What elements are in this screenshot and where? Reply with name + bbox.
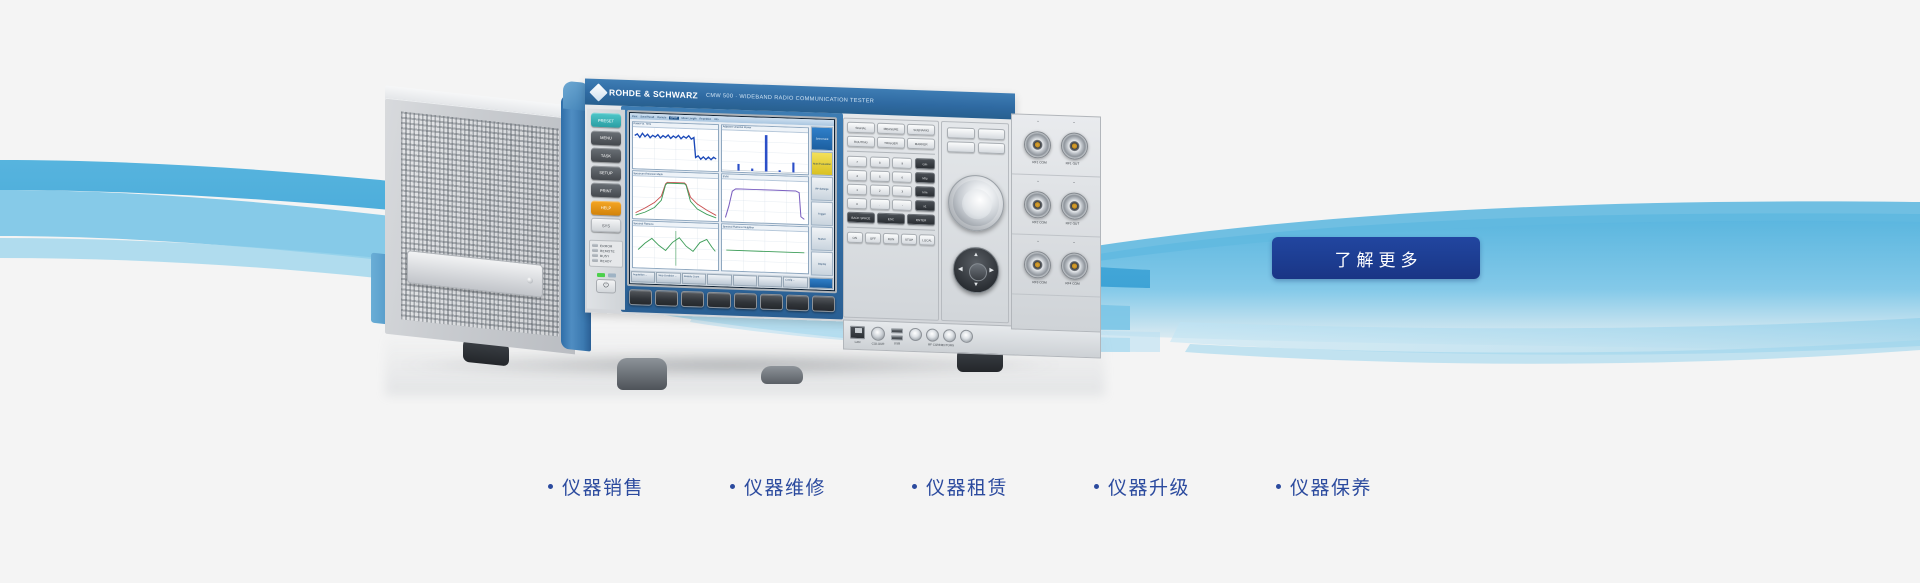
diamond-logo-icon bbox=[589, 83, 607, 101]
key-minus[interactable]: - bbox=[892, 199, 912, 211]
key-8[interactable]: 8 bbox=[870, 156, 890, 168]
menu-print[interactable]: Print bbox=[632, 115, 637, 118]
key-mega-micro[interactable]: M/µ bbox=[915, 172, 935, 184]
led-label: READY bbox=[600, 259, 612, 263]
softkey-marker[interactable]: Marker bbox=[811, 226, 833, 251]
led-label: ERROR bbox=[600, 244, 613, 248]
front-panel: ROHDE & SCHWARZ CMW 500 · WIDEBAND RADIO… bbox=[585, 78, 1015, 327]
keypad-row bbox=[947, 127, 1005, 140]
rf-connector-group: ⌁⌁ RF3 COM RF4 COM bbox=[1012, 234, 1100, 297]
bullet-icon bbox=[548, 484, 553, 489]
softkey-hw-5[interactable] bbox=[734, 293, 757, 310]
keypad-row: SIGNAL MEASURE SCENARIO bbox=[847, 122, 935, 136]
usb-ports[interactable]: USB bbox=[891, 328, 903, 345]
bullet-icon bbox=[730, 484, 735, 489]
key-dot[interactable]: . bbox=[870, 198, 890, 210]
keypad-divider bbox=[847, 227, 935, 231]
chart-spectral-flatness-neighbor: Spectral Flatness Neighbor bbox=[721, 223, 809, 274]
key-scenario[interactable]: SCENARIO bbox=[907, 124, 935, 136]
rf-connector-module: ⌁⌁ RF1 COM RF1 OUT ⌁⌁ bbox=[1011, 113, 1101, 332]
service-link-rental[interactable]: 仪器租赁 bbox=[912, 473, 1008, 500]
status-led-panel: ERROR REMOTE BUSY READY bbox=[589, 239, 623, 267]
led-row: READY bbox=[592, 258, 620, 263]
softkey-blank-3[interactable] bbox=[758, 276, 782, 288]
lan-icon bbox=[850, 326, 865, 340]
softkey-active[interactable] bbox=[809, 277, 833, 289]
chart-plot-area bbox=[633, 176, 719, 220]
keypad-divider bbox=[847, 151, 935, 155]
remote-led-icon bbox=[592, 249, 598, 252]
service-label: 仪器保养 bbox=[1290, 473, 1372, 500]
bnc-icon bbox=[909, 328, 973, 343]
menu-gprf[interactable]: GPRF bbox=[669, 116, 678, 119]
menu-info[interactable]: Info bbox=[714, 118, 718, 121]
service-label: 仪器维修 bbox=[744, 473, 826, 500]
standby-led-icon bbox=[608, 273, 616, 277]
keypad-row: 0 . - x1 bbox=[847, 198, 935, 212]
key-run[interactable]: RUN bbox=[883, 233, 899, 245]
key-0[interactable]: 0 bbox=[847, 198, 867, 210]
key-5[interactable]: 5 bbox=[870, 170, 890, 182]
learn-more-button[interactable]: 了解更多 bbox=[1272, 237, 1480, 279]
rf-connector-1[interactable] bbox=[1024, 131, 1051, 159]
rf-connector-3[interactable] bbox=[1024, 191, 1051, 219]
menu-repetition[interactable]: Repetition bbox=[700, 117, 712, 120]
setup-button[interactable]: SETUP bbox=[591, 165, 621, 180]
rf-connector-group: ⌁⌁ RF2 COM RF2 OUT bbox=[1012, 174, 1100, 237]
softkey-hw-1[interactable] bbox=[629, 289, 652, 306]
brand-name: ROHDE & SCHWARZ bbox=[609, 87, 698, 100]
led-label: REMOTE bbox=[600, 249, 615, 254]
rf-connector-label: RF2 COM bbox=[1026, 220, 1053, 225]
keypad-row: 4 5 6 M/µ bbox=[847, 170, 935, 184]
key-7[interactable]: 7 bbox=[847, 156, 867, 168]
direction-pad[interactable]: ▲ ▼ ◀ ▶ bbox=[953, 246, 999, 294]
rohde-schwarz-logo: ROHDE & SCHWARZ bbox=[592, 85, 698, 102]
softkey-stop-condition[interactable]: Stop Condition ... bbox=[656, 272, 680, 284]
key-signal[interactable]: SIGNAL bbox=[847, 122, 875, 134]
key-aux-1[interactable] bbox=[947, 127, 975, 139]
rf-connector-5[interactable] bbox=[1024, 251, 1051, 279]
rf-connector-4[interactable] bbox=[1061, 192, 1088, 220]
arrow-left-icon[interactable]: ◀ bbox=[958, 267, 963, 273]
key-measure[interactable]: MEASURE bbox=[877, 123, 905, 135]
bullet-icon bbox=[912, 484, 917, 489]
key-1[interactable]: 1 bbox=[847, 184, 867, 196]
rf-connector-label: RF1 COM bbox=[1026, 160, 1053, 165]
navigation-block: ▲ ▼ ◀ ▶ bbox=[941, 121, 1009, 323]
lan-port[interactable]: LAN bbox=[850, 326, 865, 345]
chart-power-vs-time: Power vs. Time bbox=[632, 121, 720, 172]
busy-led-icon bbox=[592, 254, 598, 257]
model-designation: CMW 500 · WIDEBAND RADIO COMMUNICATION T… bbox=[706, 93, 874, 105]
hardkey-column: PRESET MENU TASK SETUP PRINT HELP SYS ER… bbox=[587, 109, 625, 310]
keypad-row bbox=[947, 141, 1005, 154]
bullet-icon bbox=[1094, 484, 1099, 489]
rf-symbol-icon: ⌁ bbox=[1025, 179, 1052, 184]
softkey-hw-3[interactable] bbox=[681, 291, 704, 308]
key-stop[interactable]: STOP bbox=[901, 234, 917, 246]
service-label: 仪器销售 bbox=[562, 473, 644, 500]
softkey-blank-2[interactable] bbox=[733, 275, 757, 287]
rf-symbol-icon: ⌁ bbox=[1061, 180, 1088, 185]
key-kilo-milli[interactable]: k/m bbox=[915, 186, 935, 198]
ventilation-grille bbox=[401, 111, 559, 336]
chart-plot-area bbox=[722, 130, 808, 174]
rf-connector-label: RF2 OUT bbox=[1059, 221, 1086, 226]
softkey-acquisition[interactable]: Acquisition ... bbox=[631, 271, 655, 283]
chart-spectral-flatness: Spectral Flatness bbox=[632, 220, 720, 271]
key-4[interactable]: 4 bbox=[847, 170, 867, 182]
chart-plot-area bbox=[722, 180, 808, 224]
arrow-up-icon[interactable]: ▲ bbox=[973, 252, 979, 258]
monitor-icon bbox=[871, 326, 885, 340]
power-on-led-icon bbox=[597, 273, 605, 277]
service-link-repair[interactable]: 仪器维修 bbox=[730, 473, 826, 500]
monitor-port[interactable]: COLOUR bbox=[871, 326, 885, 345]
softkey-hw-8[interactable] bbox=[812, 295, 835, 312]
softkey-select-mod[interactable]: Select Mod bbox=[811, 126, 833, 151]
chart-plot-area bbox=[722, 229, 808, 273]
key-9[interactable]: 9 bbox=[892, 157, 912, 169]
chart-plot-area bbox=[633, 127, 719, 171]
rf-connector-group: ⌁⌁ RF1 COM RF1 OUT bbox=[1012, 114, 1100, 177]
key-aux-3[interactable] bbox=[947, 141, 975, 153]
key-aux-4[interactable] bbox=[978, 142, 1006, 154]
key-x1[interactable]: x1 bbox=[915, 200, 935, 212]
usb-icon bbox=[891, 328, 903, 340]
softkey-display[interactable]: Display bbox=[811, 251, 833, 276]
softkey-statistic-count[interactable]: Statistic Count bbox=[682, 273, 706, 285]
preset-button[interactable]: PRESET bbox=[591, 113, 621, 128]
key-backspace[interactable]: BACK SPACE bbox=[847, 212, 875, 224]
key-routing[interactable]: ROUTING bbox=[847, 136, 875, 148]
device-foot bbox=[617, 358, 667, 390]
bullet-icon bbox=[1276, 484, 1281, 489]
print-button[interactable]: PRINT bbox=[591, 183, 621, 198]
service-link-maintenance[interactable]: 仪器保养 bbox=[1276, 473, 1372, 500]
rf-symbol-icon: ⌁ bbox=[1061, 240, 1088, 245]
keypad-row: BACK SPACE ESC ENTER bbox=[847, 212, 935, 226]
port-label: LAN bbox=[855, 340, 861, 344]
softkey-config[interactable]: Config ... bbox=[783, 276, 807, 288]
softkey-rf-settings[interactable]: RF Settings bbox=[811, 176, 833, 201]
instrument-cmw500: ROHDE & SCHWARZ CMW 500 · WIDEBAND RADIO… bbox=[385, 78, 1105, 378]
chart-spectrum-emission-mask: Spectrum Emission Mask bbox=[632, 170, 720, 221]
sys-button[interactable]: SYS bbox=[591, 218, 621, 233]
keypad-row: ON OFF RUN STOP LOCAL bbox=[847, 232, 935, 246]
port-label: USB bbox=[894, 341, 900, 345]
softkey-trigger[interactable]: Trigger bbox=[811, 201, 833, 226]
chassis-side-panel bbox=[385, 98, 575, 355]
measurement-grid: Power vs. Time bbox=[630, 119, 810, 276]
rf-connector-2[interactable] bbox=[1061, 132, 1088, 160]
service-link-row: 仪器销售 仪器维修 仪器租赁 仪器升级 仪器保养 bbox=[0, 466, 1920, 506]
menu-remote[interactable]: Remote bbox=[657, 116, 666, 119]
key-aux-2[interactable] bbox=[978, 128, 1006, 140]
service-link-sales[interactable]: 仪器销售 bbox=[548, 473, 644, 500]
keypad-row: ROUTING TRIGGER MARKER bbox=[847, 136, 935, 150]
rotary-knob[interactable] bbox=[948, 174, 1004, 232]
rf-symbol-icon: ⌁ bbox=[1061, 120, 1088, 125]
key-local[interactable]: LOCAL bbox=[919, 234, 935, 246]
arrow-right-icon[interactable]: ▶ bbox=[989, 268, 994, 274]
keypad-row: 7 8 9 G/n bbox=[847, 156, 935, 170]
key-giga-nano[interactable]: G/n bbox=[915, 158, 935, 170]
key-6[interactable]: 6 bbox=[892, 171, 912, 183]
power-button[interactable]: ⏻ bbox=[596, 278, 616, 293]
nav-aux-keys bbox=[947, 127, 1005, 169]
softkey-hw-6[interactable] bbox=[760, 294, 783, 311]
menu-save-recall[interactable]: Save/Recall bbox=[640, 115, 654, 118]
keypad-row: 1 2 3 k/m bbox=[847, 184, 935, 198]
softkey-blank-1[interactable] bbox=[707, 274, 731, 286]
rf-connector-label: RF1 OUT bbox=[1059, 161, 1086, 166]
power-area: ⏻ bbox=[596, 273, 616, 293]
service-link-upgrade[interactable]: 仪器升级 bbox=[1094, 473, 1190, 500]
service-label: 仪器租赁 bbox=[926, 473, 1008, 500]
ready-led-icon bbox=[592, 259, 598, 262]
rf-connector-label: RF4 COM bbox=[1059, 281, 1086, 286]
key-off[interactable]: OFF bbox=[865, 232, 881, 244]
chart-plot-area bbox=[633, 226, 719, 270]
service-label: 仪器升级 bbox=[1108, 473, 1190, 500]
port-label: RF CONNECTORS bbox=[928, 342, 954, 347]
key-2[interactable]: 2 bbox=[870, 184, 890, 196]
front-rf-connectors[interactable]: RF CONNECTORS bbox=[909, 328, 973, 348]
key-esc[interactable]: ESC bbox=[877, 213, 905, 225]
keypad-block: SIGNAL MEASURE SCENARIO ROUTING TRIGGER … bbox=[843, 118, 939, 321]
menu-meas-length[interactable]: Meas Length bbox=[682, 116, 697, 120]
device-foot bbox=[761, 366, 803, 384]
instrument-display[interactable]: Print Save/Recall Remote GPRF Meas Lengt… bbox=[627, 110, 837, 293]
softkey-hw-2[interactable] bbox=[655, 290, 678, 307]
rf-connector-6[interactable] bbox=[1061, 252, 1088, 280]
task-button[interactable]: TASK bbox=[591, 148, 621, 163]
key-on[interactable]: ON bbox=[847, 232, 863, 244]
softkey-hw-4[interactable] bbox=[707, 292, 730, 309]
hero-banner: ROHDE & SCHWARZ CMW 500 · WIDEBAND RADIO… bbox=[0, 0, 1920, 583]
menu-button[interactable]: MENU bbox=[591, 130, 621, 145]
rf-symbol-icon: ⌁ bbox=[1025, 119, 1052, 124]
arrow-down-icon[interactable]: ▼ bbox=[973, 282, 979, 288]
error-led-icon bbox=[592, 244, 598, 247]
rf-connector-label: RF3 COM bbox=[1026, 280, 1053, 285]
softkey-hw-7[interactable] bbox=[786, 295, 809, 312]
led-label: BUSY bbox=[600, 254, 609, 258]
rf-symbol-icon: ⌁ bbox=[1025, 239, 1052, 244]
help-button[interactable]: HELP bbox=[591, 200, 621, 215]
key-3[interactable]: 3 bbox=[892, 185, 912, 197]
port-label: COLOUR bbox=[872, 341, 885, 345]
display-softkey-column: Select Mod Multi Evaluation RF Settings … bbox=[810, 125, 834, 277]
chart-evm: EVM bbox=[721, 174, 809, 225]
key-enter[interactable]: ENTER bbox=[907, 214, 935, 226]
chart-adjacent-channel-power: Adjacent Channel Power bbox=[721, 124, 809, 175]
softkey-multi-eval[interactable]: Multi Evaluation bbox=[811, 151, 833, 176]
key-trigger[interactable]: TRIGGER bbox=[877, 137, 905, 149]
key-marker[interactable]: MARKER bbox=[907, 138, 935, 150]
